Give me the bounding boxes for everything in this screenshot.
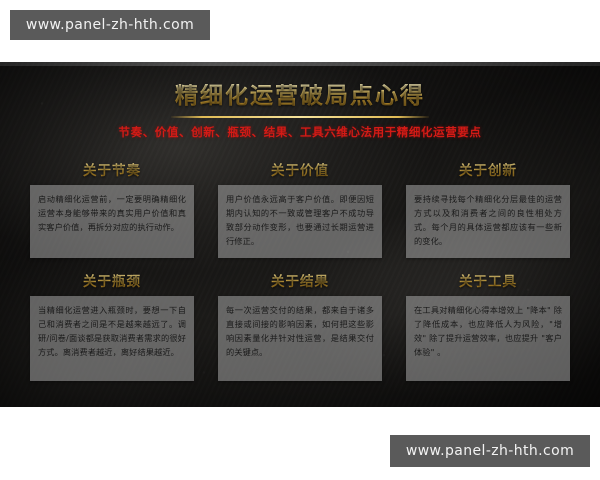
poster-top-strip (0, 62, 600, 66)
watermark-bottom: www.panel-zh-hth.com (390, 435, 590, 467)
card-innovation: 关于创新 要持续寻找每个精细化分层最佳的运营方式以及和消费者之间的良性相处方式。… (406, 159, 570, 258)
card-tools: 关于工具 在工具对精细化心得本增效上 "降本" 除了降低成本，也应降低人为风险，… (406, 270, 570, 381)
cards-grid: 关于节奏 启动精细化运营前，一定要明确精细化运营本身能够带来的真实用户价值和真实… (30, 159, 570, 381)
watermark-top: www.panel-zh-hth.com (10, 10, 210, 40)
card-heading: 关于创新 (406, 159, 570, 179)
title-divider (171, 116, 429, 118)
card-heading: 关于节奏 (30, 159, 194, 179)
card-bottleneck: 关于瓶颈 当精细化运营进入瓶颈时，要想一下自己和消费者之间是不是越来越远了。调研… (30, 270, 194, 381)
card-body: 用户价值永远高于客户价值。即便因短期内认知的不一致或管理客户不成功导致部分动作变… (218, 185, 382, 258)
card-result: 关于结果 每一次运营交付的结果，都来自于诸多直接或间接的影响因素，如何把这些影响… (218, 270, 382, 381)
card-body: 在工具对精细化心得本增效上 "降本" 除了降低成本，也应降低人为风险，"增效" … (406, 296, 570, 381)
card-rhythm: 关于节奏 启动精细化运营前，一定要明确精细化运营本身能够带来的真实用户价值和真实… (30, 159, 194, 258)
card-body: 每一次运营交付的结果，都来自于诸多直接或间接的影响因素，如何把这些影响因素量化并… (218, 296, 382, 381)
poster-heading-block: 精细化运营破局点心得 节奏、价值、创新、瓶颈、结果、工具六维心法用于精细化运营要… (0, 84, 600, 140)
card-heading: 关于结果 (218, 270, 382, 290)
card-heading: 关于工具 (406, 270, 570, 290)
page-title: 精细化运营破局点心得 (0, 84, 600, 109)
watermark-bottom-text: www.panel-zh-hth.com (406, 443, 574, 459)
card-heading: 关于价值 (218, 159, 382, 179)
poster-image: 精细化运营破局点心得 节奏、价值、创新、瓶颈、结果、工具六维心法用于精细化运营要… (0, 62, 600, 407)
card-body: 要持续寻找每个精细化分层最佳的运营方式以及和消费者之间的良性相处方式。每个月的具… (406, 185, 570, 258)
card-body: 当精细化运营进入瓶颈时，要想一下自己和消费者之间是不是越来越远了。调研/问卷/面… (30, 296, 194, 381)
card-body: 启动精细化运营前，一定要明确精细化运营本身能够带来的真实用户价值和真实客户价值，… (30, 185, 194, 258)
watermark-top-text: www.panel-zh-hth.com (26, 17, 194, 33)
card-heading: 关于瓶颈 (30, 270, 194, 290)
poster-subtitle: 节奏、价值、创新、瓶颈、结果、工具六维心法用于精细化运营要点 (0, 124, 600, 140)
card-value: 关于价值 用户价值永远高于客户价值。即便因短期内认知的不一致或管理客户不成功导致… (218, 159, 382, 258)
